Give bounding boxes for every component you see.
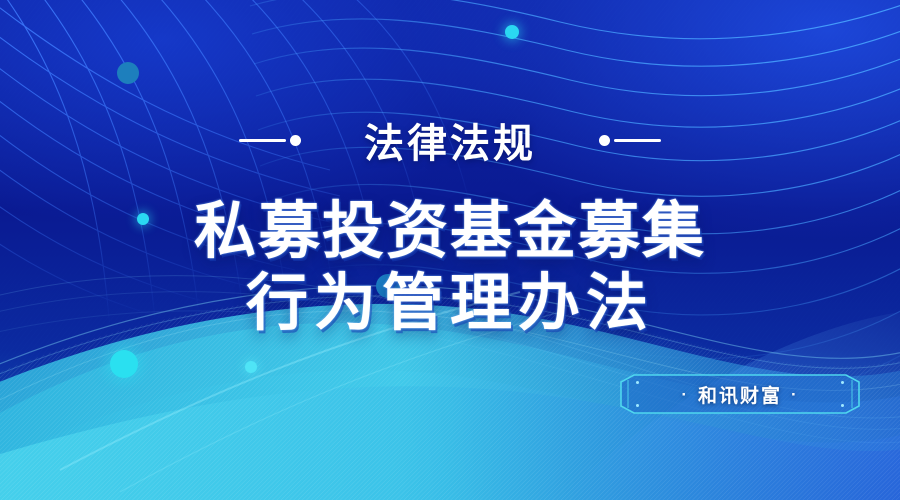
eyebrow-rule-left-bar — [239, 139, 286, 142]
eyebrow-rule-right — [599, 135, 661, 146]
eyebrow-rule-right-bar — [614, 139, 661, 142]
badge-label: 和讯财富 — [698, 381, 782, 408]
headline-line-1: 私募投资基金募集 — [0, 196, 900, 268]
cyan-circle-bottom-left — [110, 350, 138, 378]
headline: 私募投资基金募集 行为管理办法 — [0, 196, 900, 340]
eyebrow-rule-left-dot — [290, 135, 301, 146]
cyan-dot-top-right — [505, 25, 519, 39]
eyebrow-row: 法律法规 — [0, 108, 900, 172]
banner-canvas: 法律法规 私募投资基金募集 行为管理办法 — [0, 0, 900, 500]
eyebrow-rule-left — [239, 135, 301, 146]
badge-dot-left: · — [681, 386, 689, 403]
eyebrow-rule-right-dot — [599, 135, 610, 146]
headline-line-2: 行为管理办法 — [0, 268, 900, 340]
badge-label-row: · 和讯财富 · — [620, 374, 860, 414]
category-label: 法律法规 — [364, 111, 536, 169]
cyan-dot-bottom-mid — [245, 361, 257, 373]
teal-circle-top-left — [117, 62, 139, 84]
brand-badge[interactable]: · 和讯财富 · — [620, 374, 860, 414]
badge-dot-right: · — [791, 386, 799, 403]
